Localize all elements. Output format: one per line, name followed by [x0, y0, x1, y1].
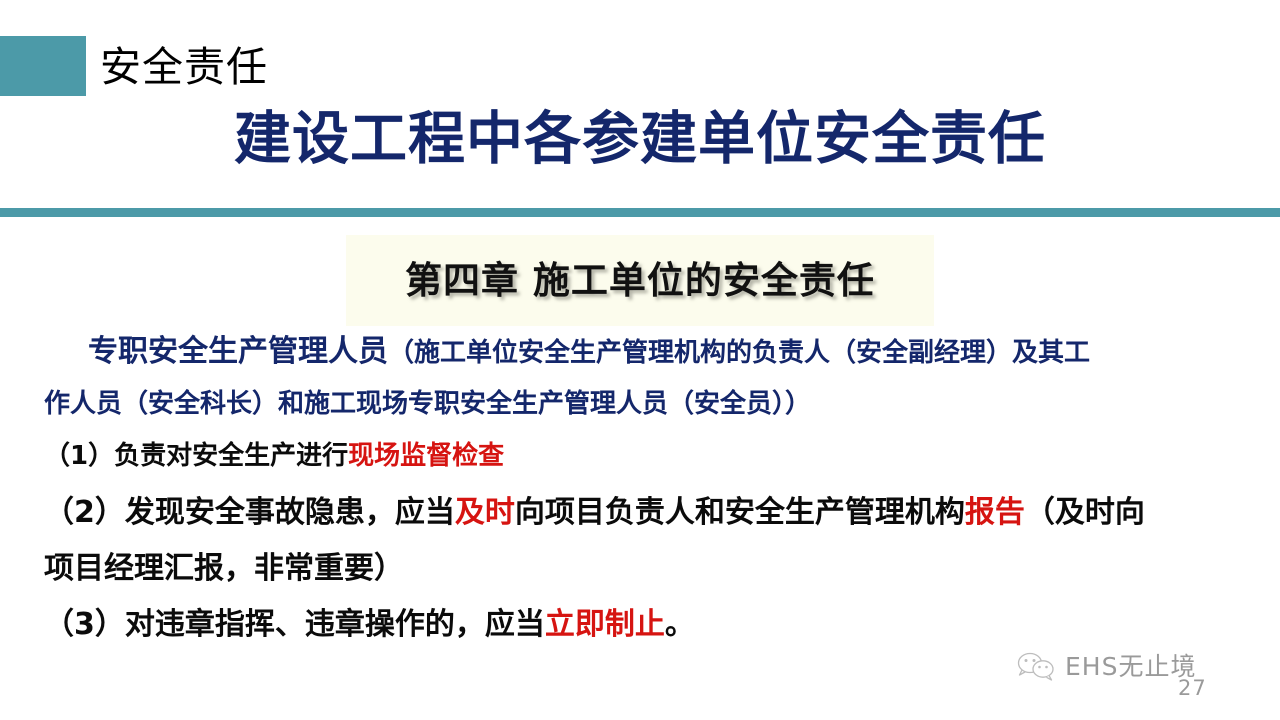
page-title: 建设工程中各参建单位安全责任: [0, 103, 1280, 175]
list-item-2-continuation: 项目经理汇报，非常重要）: [44, 548, 404, 590]
list-item-3: （3）对违章指挥、违章操作的，应当立即制止。: [44, 604, 695, 646]
list-item-1: （1）负责对安全生产进行现场监督检查: [44, 436, 504, 476]
lead-paragraph-line-2: 作人员（安全科长）和施工现场专职安全生产管理人员（安全员））: [44, 384, 811, 424]
list-item-3-seg-2: 。: [665, 607, 695, 642]
header-accent-block: [0, 36, 86, 96]
list-item-3-seg-1: 立即制止: [545, 607, 665, 642]
wechat-icon: [1016, 651, 1058, 683]
list-item-1-number: （1）: [44, 441, 114, 471]
kicker-text: 安全责任: [100, 36, 620, 98]
list-item-2-seg-4: （及时向: [1025, 495, 1145, 530]
list-item-2-seg-0: 发现安全事故隐患，应当: [125, 495, 455, 530]
lead-paragraph-line-1: 专职安全生产管理人员（施工单位安全生产管理机构的负责人（安全副经理）及其工: [88, 332, 1090, 373]
lead-emphasis: 专职安全生产管理人员: [88, 334, 388, 369]
list-item-2: （2）发现安全事故隐患，应当及时向项目负责人和安全生产管理机构报告（及时向: [44, 492, 1145, 534]
list-item-2-number: （2）: [44, 495, 125, 530]
list-item-2-seg-3: 报告: [965, 495, 1025, 530]
lead-rest: （施工单位安全生产管理机构的负责人（安全副经理）及其工: [388, 338, 1090, 368]
chapter-banner-label: 第四章 施工单位的安全责任: [346, 235, 934, 326]
slide-canvas: 安全责任 建设工程中各参建单位安全责任 第四章 施工单位的安全责任 专职安全生产…: [0, 0, 1280, 720]
list-item-3-number: （3）: [44, 607, 125, 642]
body-content: 专职安全生产管理人员（施工单位安全生产管理机构的负责人（安全副经理）及其工 作人…: [0, 332, 1280, 662]
list-item-3-seg-0: 对违章指挥、违章操作的，应当: [125, 607, 545, 642]
list-item-1-seg-1: 现场监督检查: [348, 441, 504, 471]
list-item-2-seg-2: 向项目负责人和安全生产管理机构: [515, 495, 965, 530]
list-item-2-seg-1: 及时: [455, 495, 515, 530]
watermark-label: EHS无止境: [1065, 651, 1196, 683]
header-divider: [0, 208, 1280, 217]
page-number: 27: [1178, 676, 1207, 700]
list-item-1-seg-0: 负责对安全生产进行: [114, 441, 348, 471]
